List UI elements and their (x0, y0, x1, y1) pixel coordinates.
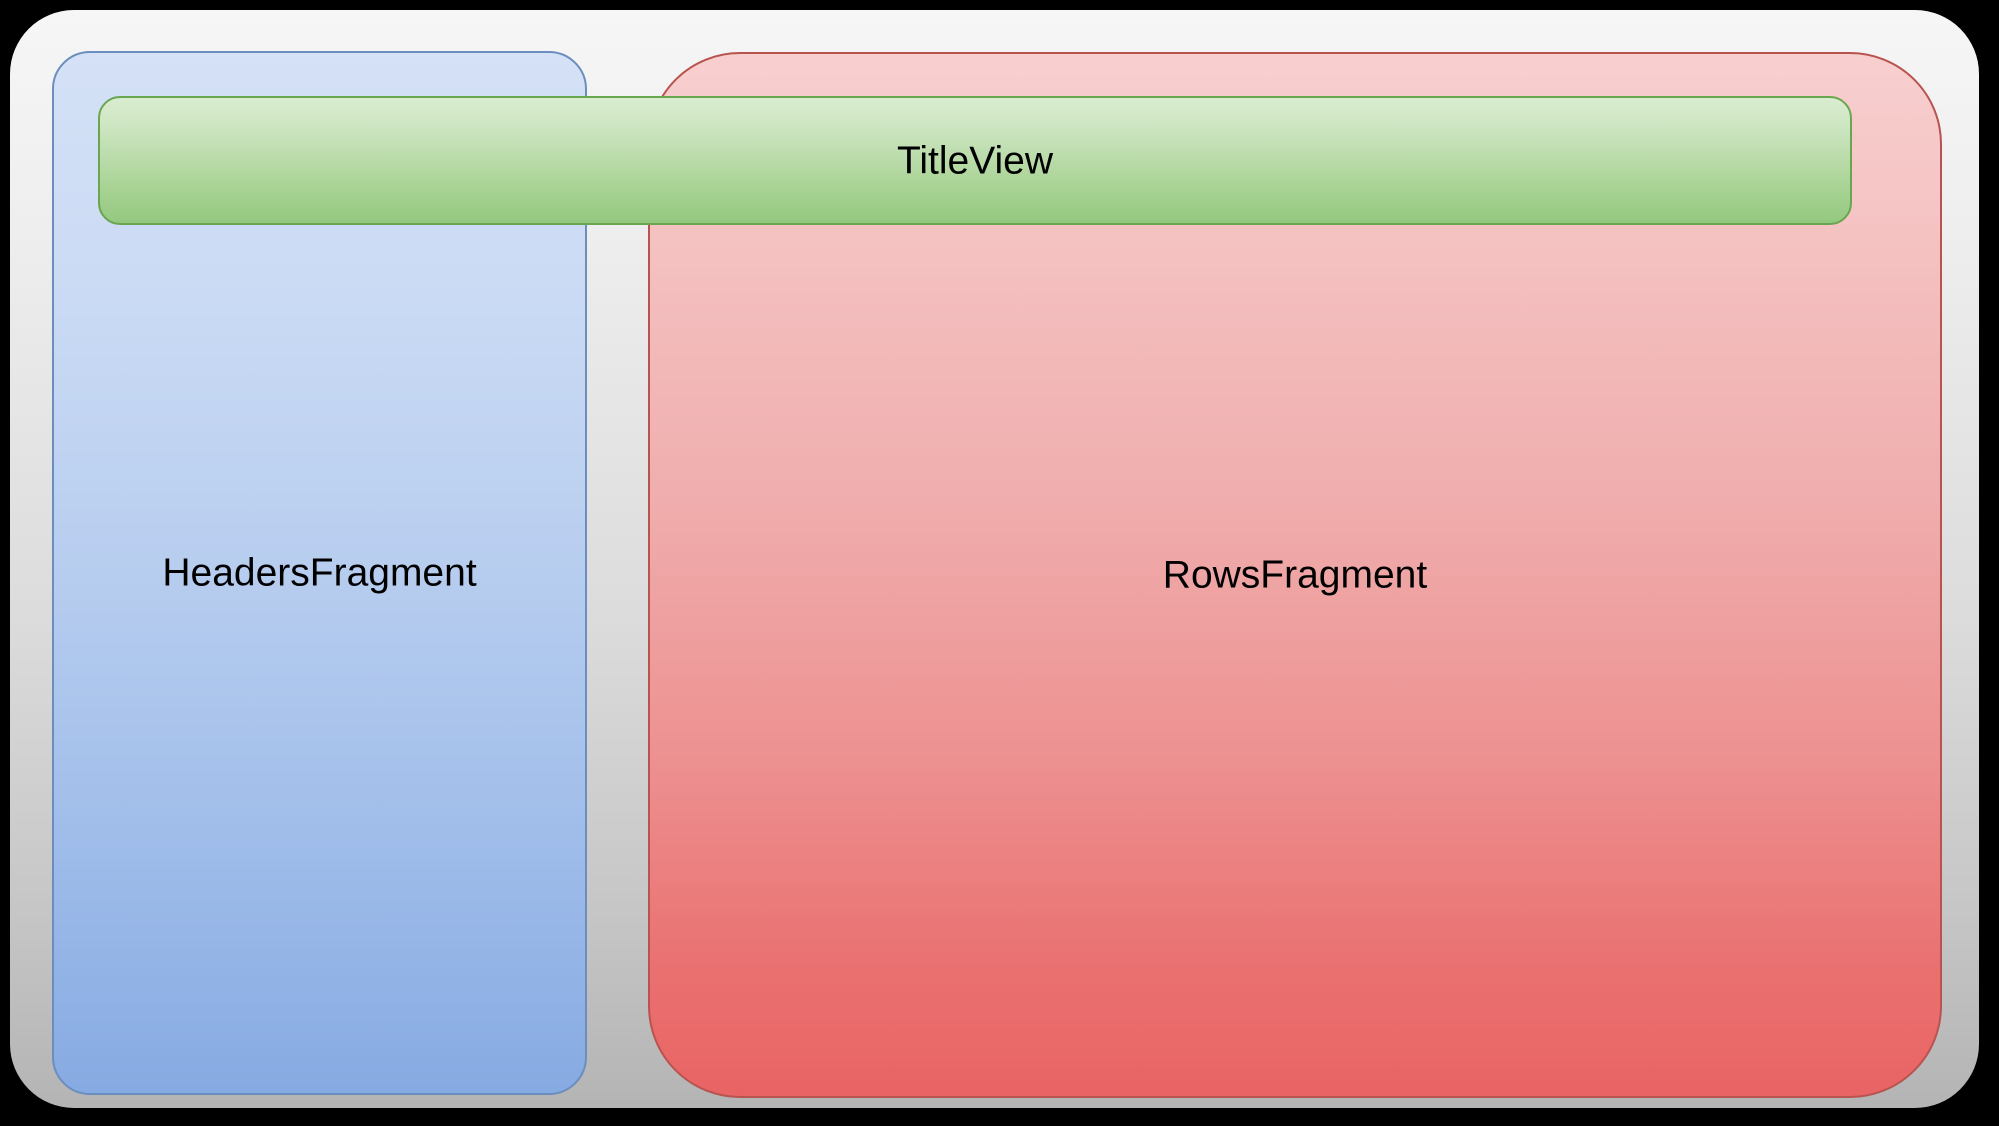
title-view-box[interactable]: TitleView (98, 96, 1852, 225)
title-view-label: TitleView (100, 141, 1850, 180)
outer-container-frame: HeadersFragment RowsFragment TitleView (10, 10, 1979, 1108)
headers-fragment-label: HeadersFragment (54, 554, 585, 593)
diagram-canvas: HeadersFragment RowsFragment TitleView (0, 0, 1999, 1126)
rows-fragment-label: RowsFragment (650, 556, 1940, 595)
